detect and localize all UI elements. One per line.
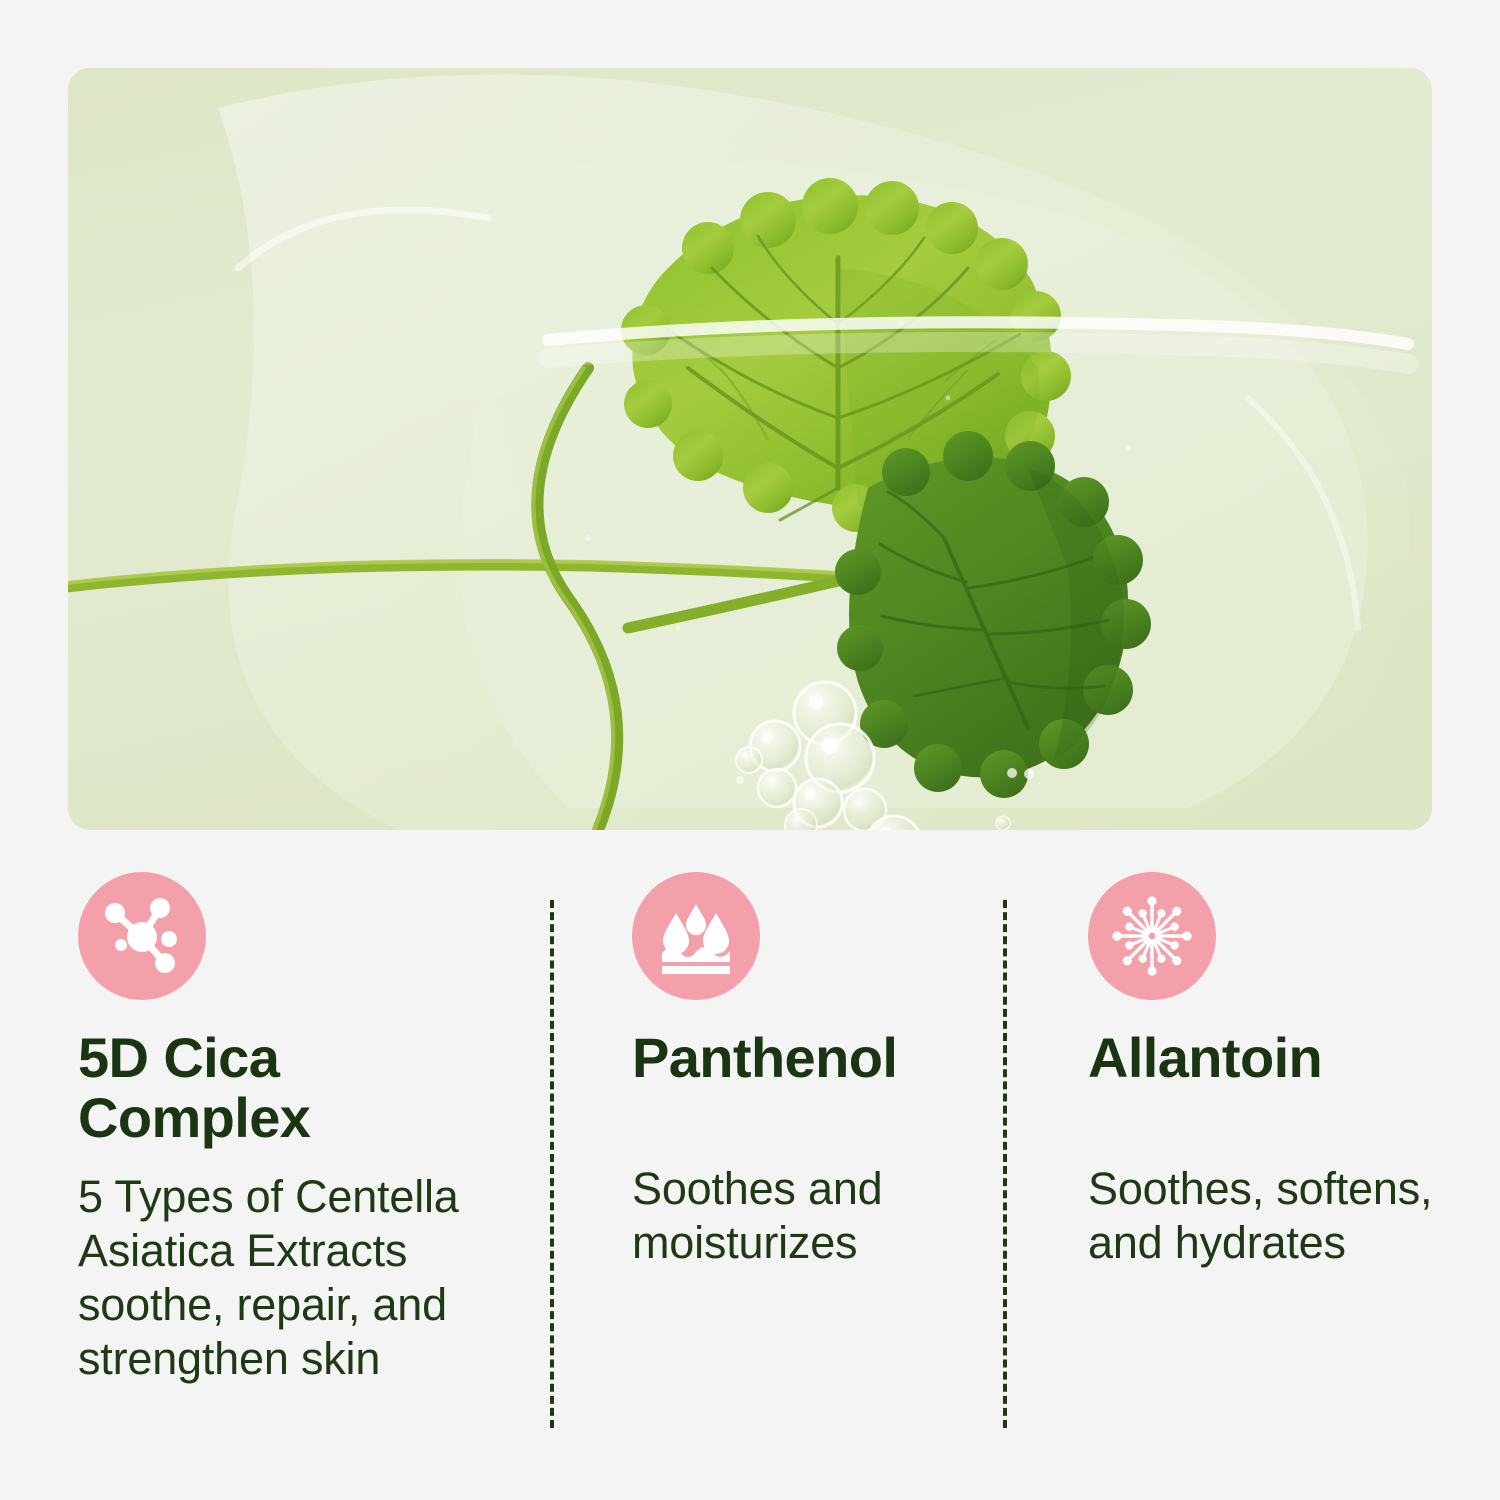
- feature-title: Allantoin: [1088, 1028, 1500, 1088]
- molecule-icon: [78, 872, 206, 1000]
- feature-title: Panthenol: [632, 1028, 1062, 1088]
- feature-columns: 5D Cica Complex 5 Types of Centella Asia…: [0, 872, 1500, 1452]
- feature-title: 5D Cica Complex: [78, 1028, 508, 1148]
- feature-column-5d-cica-complex: 5D Cica Complex 5 Types of Centella Asia…: [78, 872, 508, 1452]
- feature-description: Soothes, softens, and hydrates: [1088, 1162, 1500, 1270]
- infographic-page: 5D Cica Complex 5 Types of Centella Asia…: [0, 0, 1500, 1500]
- feature-description: 5 Types of Centella Asiatica Extracts so…: [78, 1170, 508, 1386]
- feature-column-allantoin: Allantoin Soothes, softens, and hydrates: [1088, 872, 1500, 1452]
- water-drops-layer-icon: [632, 872, 760, 1000]
- hero-image: [68, 68, 1432, 830]
- feature-description: Soothes and moisturizes: [632, 1162, 1062, 1270]
- centella-leaf-gel-photo: [68, 68, 1432, 830]
- radial-burst-icon: [1088, 872, 1216, 1000]
- feature-column-panthenol: Panthenol Soothes and moisturizes: [632, 872, 1062, 1452]
